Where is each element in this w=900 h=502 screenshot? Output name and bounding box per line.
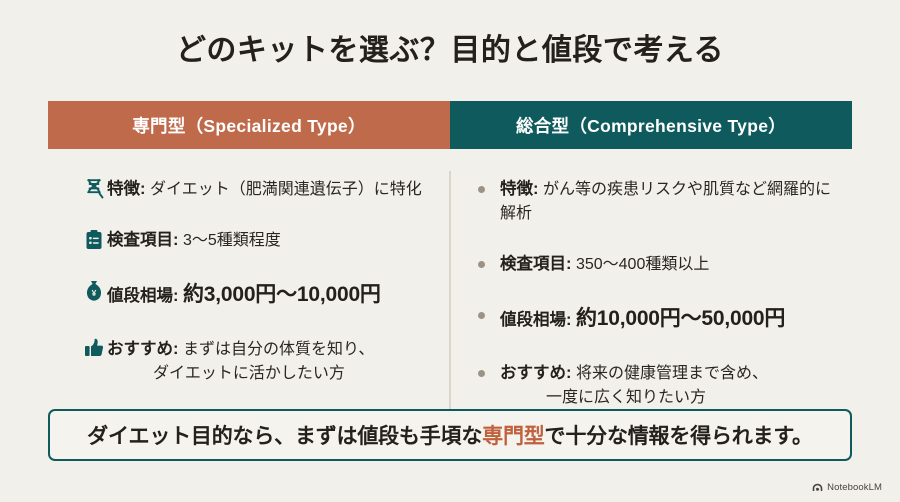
list-item: 値段相場: 約10,000円〜50,000円 (478, 303, 840, 335)
clipboard-icon (81, 228, 107, 252)
table-header-row: 専門型（Specialized Type） 総合型（Comprehensive … (48, 101, 852, 149)
bullet-dot-icon (478, 361, 500, 377)
list-item-text: 値段相場: 約10,000円〜50,000円 (500, 303, 840, 335)
item-value: 将来の健康管理まで含め、 (576, 365, 768, 382)
bullet-dot-icon (478, 252, 500, 268)
list-item-text: 検査項目: 350〜400種類以上 (500, 252, 840, 277)
column-header-specialized: 専門型（Specialized Type） (48, 101, 450, 149)
list-item: 検査項目: 3〜5種類程度 (81, 228, 438, 253)
item-value: 約3,000円〜10,000円 (183, 283, 381, 306)
bullet-dot-icon (478, 177, 500, 193)
item-value: がん等の疾患リスクや肌質など網羅的に解析 (500, 181, 831, 222)
item-label: 値段相場: (500, 311, 572, 329)
notebooklm-logo-icon (812, 483, 823, 492)
list-item-text: 特徴: ダイエット（肥満関連遺伝子）に特化 (107, 177, 438, 202)
item-label: おすすめ: (107, 340, 179, 358)
item-label: おすすめ: (500, 364, 572, 382)
money-bag-icon: ¥ (81, 279, 107, 303)
list-item: 検査項目: 350〜400種類以上 (478, 252, 840, 277)
item-value: ダイエット（肥満関連遺伝子）に特化 (150, 181, 422, 198)
callout-suffix: で十分な情報を得られます。 (545, 420, 813, 450)
item-value-line2: ダイエットに活かしたい方 (107, 362, 438, 386)
footer-brand: NotebookLM (812, 482, 882, 493)
list-item: おすすめ: 将来の健康管理まで含め、 一度に広く知りたい方 (478, 361, 840, 410)
comparison-table: 専門型（Specialized Type） 総合型（Comprehensive … (48, 101, 852, 410)
table-body-row: 特徴: ダイエット（肥満関連遺伝子）に特化 (48, 149, 852, 410)
list-item: おすすめ: まずは自分の体質を知り、 ダイエットに活かしたい方 (81, 337, 438, 386)
list-item-text: おすすめ: まずは自分の体質を知り、 ダイエットに活かしたい方 (107, 337, 438, 386)
item-value: まずは自分の体質を知り、 (183, 341, 374, 358)
item-label: 検査項目: (107, 231, 179, 249)
item-label: 特徴: (500, 180, 539, 198)
item-value: 350〜400種類以上 (576, 256, 709, 273)
dna-icon (81, 177, 107, 201)
summary-callout: ダイエット目的なら、まずは値段も手頃な 専門型 で十分な情報を得られます。 (48, 409, 852, 461)
list-item: ¥ 値段相場: 約3,000円〜10,000円 (81, 279, 438, 311)
column-header-comprehensive: 総合型（Comprehensive Type） (450, 101, 852, 149)
column-divider (449, 171, 451, 416)
item-value-line2: 一度に広く知りたい方 (500, 386, 840, 410)
item-label: 値段相場: (107, 287, 179, 305)
item-value: 3〜5種類程度 (183, 232, 281, 249)
page-title: どのキットを選ぶ？目的と値段で考える (0, 0, 900, 69)
list-item: 特徴: ダイエット（肥満関連遺伝子）に特化 (81, 177, 438, 202)
item-value: 約10,000円〜50,000円 (576, 307, 785, 330)
list-item-text: 特徴: がん等の疾患リスクや肌質など網羅的に解析 (500, 177, 840, 226)
list-item-text: 検査項目: 3〜5種類程度 (107, 228, 438, 253)
callout-prefix: ダイエット目的なら、まずは値段も手頃な (87, 420, 482, 450)
footer-brand-label: NotebookLM (827, 482, 882, 493)
svg-text:¥: ¥ (92, 288, 97, 298)
list-item-text: 値段相場: 約3,000円〜10,000円 (107, 279, 438, 311)
item-label: 検査項目: (500, 255, 572, 273)
callout-highlight: 専門型 (482, 420, 544, 450)
item-label: 特徴: (107, 180, 146, 198)
bullet-dot-icon (478, 303, 500, 319)
column-comprehensive: 特徴: がん等の疾患リスクや肌質など網羅的に解析 検査項目: 350〜400種類… (450, 177, 852, 410)
thumbs-up-icon (81, 337, 107, 361)
column-specialized: 特徴: ダイエット（肥満関連遺伝子）に特化 (48, 177, 450, 410)
list-item-text: おすすめ: 将来の健康管理まで含め、 一度に広く知りたい方 (500, 361, 840, 410)
list-item: 特徴: がん等の疾患リスクや肌質など網羅的に解析 (478, 177, 840, 226)
